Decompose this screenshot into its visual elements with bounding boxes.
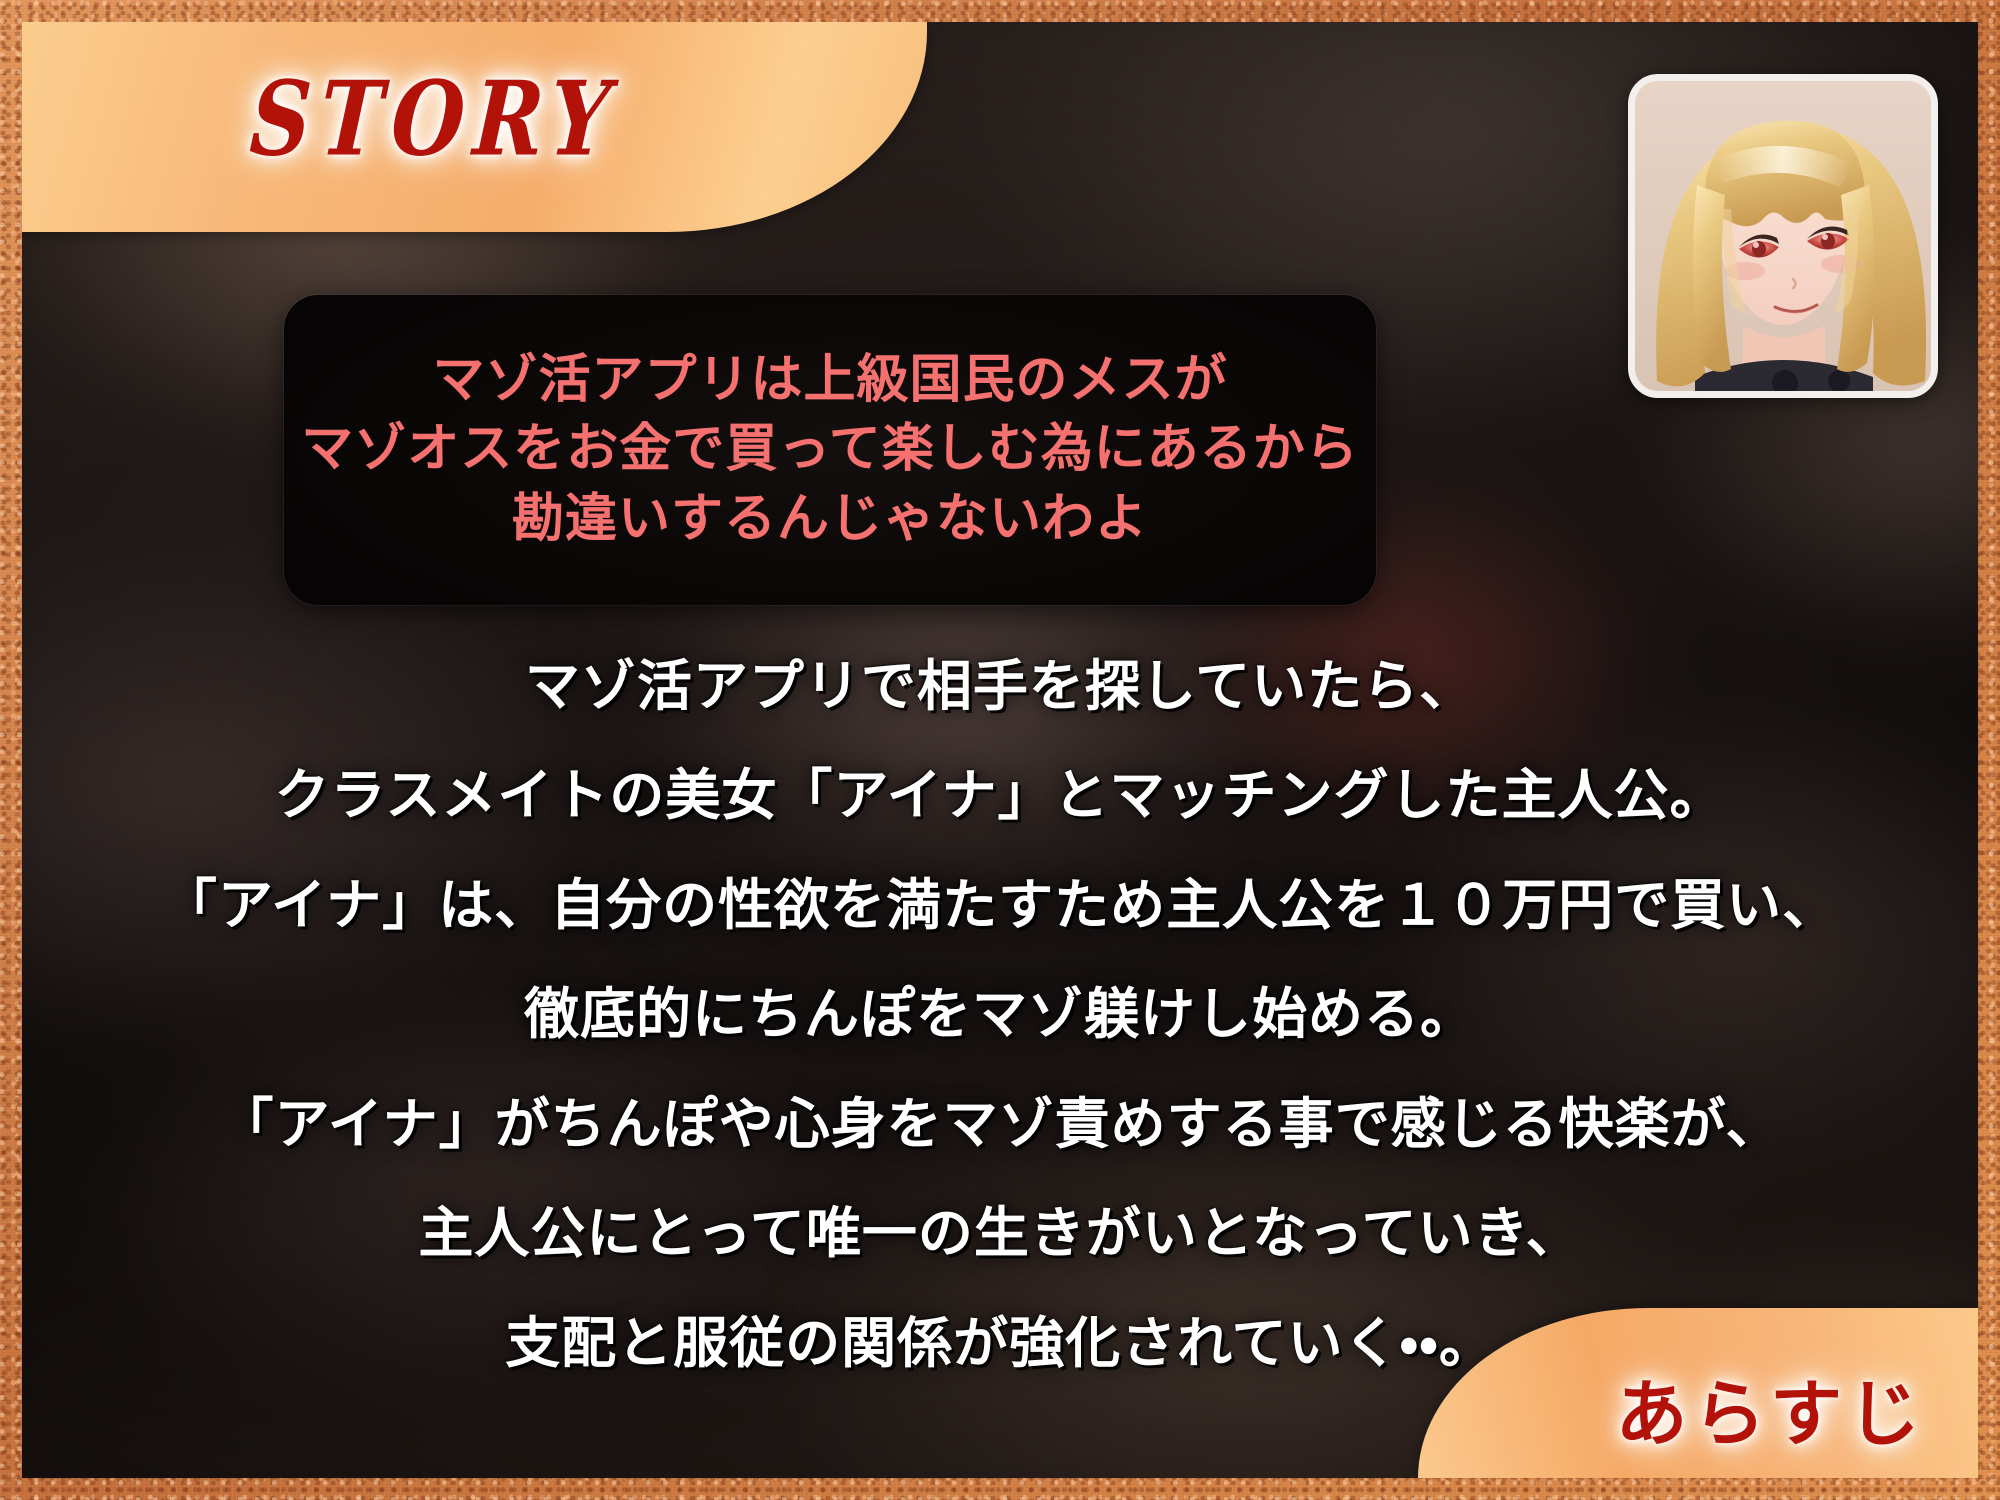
- synopsis-line: マゾ活アプリで相手を探していたら、: [44, 632, 1956, 741]
- synopsis-line: 「アイナ」は、自分の性欲を満たすため主人公を１０万円で買い、: [44, 851, 1956, 960]
- story-header-banner: STORY: [22, 22, 927, 232]
- content-panel: STORY: [22, 22, 1978, 1478]
- dialogue-line: マゾオスをお金で買って楽しむ為にあるから: [301, 415, 1358, 484]
- synopsis-line: 主人公にとって唯一の生きがいとなっていき、: [44, 1179, 1956, 1288]
- synopsis-line: 「アイナ」がちんぽや心身をマゾ責めする事で感じる快楽が、: [44, 1070, 1956, 1179]
- avatar: [1628, 74, 1938, 398]
- character-dialogue-box: マゾ活アプリは上級国民のメスが マゾオスをお金で買って楽しむ為にあるから 勘違い…: [284, 295, 1376, 605]
- synopsis-text-block: マゾ活アプリで相手を探していたら、 クラスメイトの美女「アイナ」とマッチングした…: [44, 632, 1956, 1398]
- synopsis-line: 徹底的にちんぽをマゾ躾けし始める。: [44, 960, 1956, 1069]
- character-portrait-icon: [1635, 81, 1931, 391]
- page-title: STORY: [247, 58, 622, 179]
- synopsis-line: クラスメイトの美女「アイナ」とマッチングした主人公。: [44, 741, 1956, 850]
- dialogue-line: マゾ活アプリは上級国民のメスが: [432, 346, 1227, 415]
- story-page: STORY: [0, 0, 2000, 1500]
- synopsis-label: あらすじ: [1615, 1355, 1926, 1460]
- dialogue-line: 勘違いするんじゃないわよ: [512, 485, 1148, 554]
